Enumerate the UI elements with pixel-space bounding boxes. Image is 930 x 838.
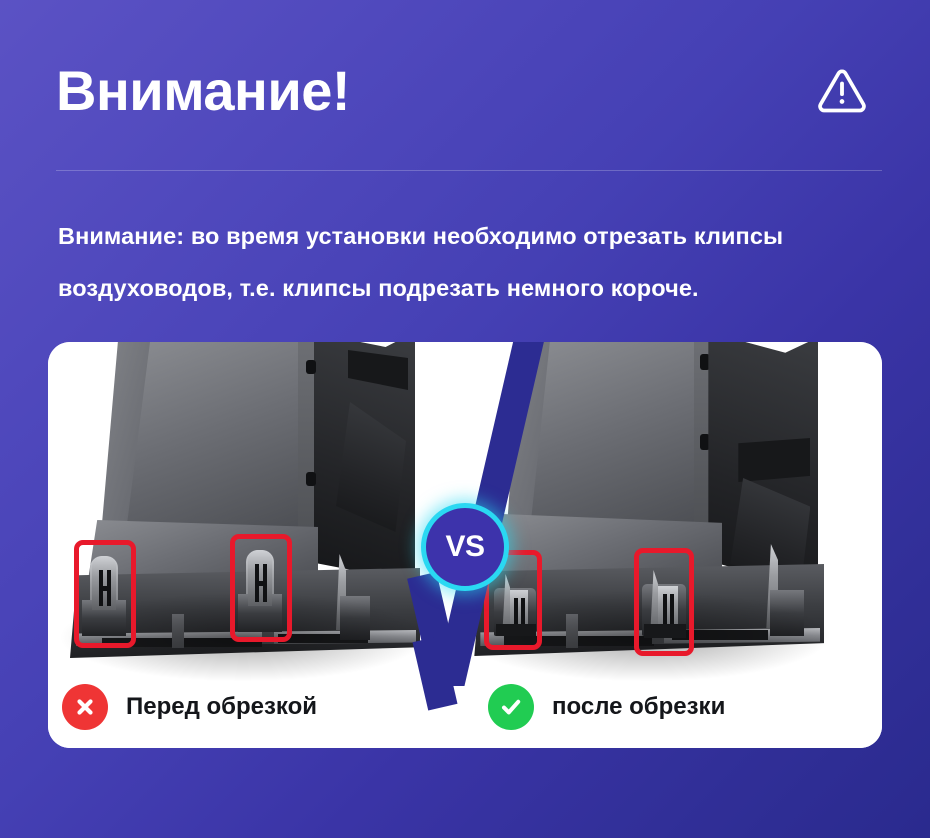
caption-row: Перед обрезкой после обрезки [48, 652, 882, 748]
after-caption-group: после обрезки [488, 684, 725, 730]
header-divider [56, 170, 882, 171]
after-caption-label: после обрезки [552, 693, 725, 721]
cross-circle-icon [62, 684, 108, 730]
warning-paragraph: Внимание: во время установки необходимо … [58, 210, 882, 314]
highlight-box-clip-2 [230, 534, 292, 642]
warning-triangle-icon [814, 63, 870, 119]
vs-badge: VS [421, 503, 509, 591]
header: Внимание! [56, 52, 882, 130]
highlight-box-clip-2 [634, 548, 694, 656]
before-caption-label: Перед обрезкой [126, 693, 317, 721]
vs-label: VS [445, 532, 484, 562]
page-title: Внимание! [56, 62, 350, 121]
check-circle-icon [488, 684, 534, 730]
comparison-card: VS Перед обрезкой после [48, 342, 882, 748]
before-caption-group: Перед обрезкой [62, 684, 317, 730]
warning-infographic-page: Внимание! Внимание: во время установки н… [0, 0, 930, 838]
highlight-box-clip-1 [74, 540, 136, 648]
